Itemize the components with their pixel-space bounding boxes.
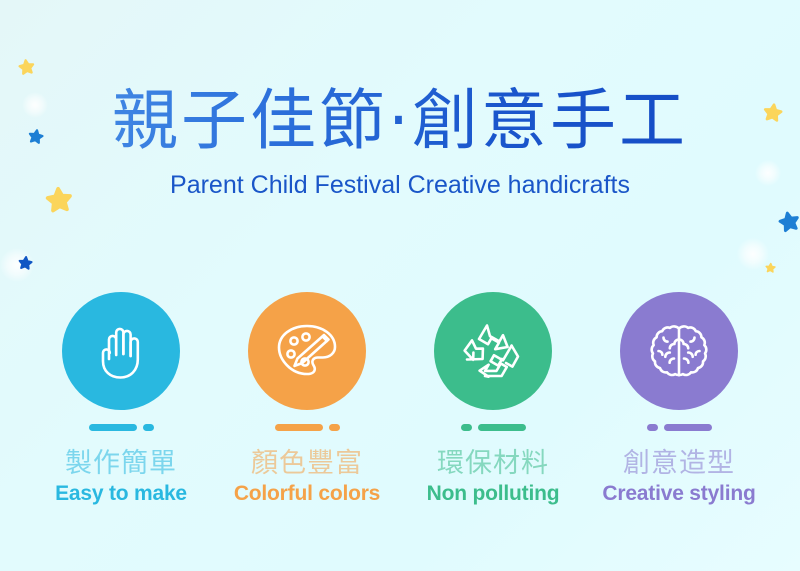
feature-icon-circle[interactable] <box>62 292 180 410</box>
feature-label-cn: 顏色豐富 <box>251 448 363 480</box>
hand-icon <box>85 315 157 387</box>
page-subtitle: Parent Child Festival Creative handicraf… <box>0 170 800 200</box>
feature-row: 製作簡單Easy to make顏色豐富Colorful colors環保材料N… <box>0 292 800 506</box>
feature-label-cn: 製作簡單 <box>65 448 177 480</box>
feature-divider <box>647 424 712 431</box>
divider-dash-short <box>329 424 340 431</box>
feature-recycle[interactable]: 環保材料Non polluting <box>400 292 586 506</box>
divider-dash-long <box>89 424 137 431</box>
star-yellow-top-left <box>18 58 35 75</box>
feature-divider <box>89 424 154 431</box>
divider-dash-short <box>647 424 658 431</box>
divider-dash-short <box>461 424 472 431</box>
feature-icon-circle[interactable] <box>434 292 552 410</box>
feature-label-en: Creative styling <box>602 481 755 506</box>
feature-label-cn: 環保材料 <box>437 448 549 480</box>
poster-canvas: 親子佳節·創意手工 Parent Child Festival Creative… <box>0 0 800 571</box>
feature-label-cn: 創意造型 <box>623 448 735 480</box>
poster-header: 親子佳節·創意手工 Parent Child Festival Creative… <box>0 84 800 200</box>
feature-divider <box>275 424 340 431</box>
feature-label-en: Non polluting <box>427 481 560 506</box>
feature-label-en: Colorful colors <box>234 481 380 506</box>
star-yellow-lower-right <box>765 262 776 273</box>
brain-icon <box>644 315 714 387</box>
divider-dash-long <box>478 424 526 431</box>
divider-dash-long <box>275 424 323 431</box>
divider-dash-short <box>143 424 154 431</box>
star-blue-lower-left <box>18 255 33 270</box>
star-blue-mid-right <box>778 210 800 232</box>
feature-divider <box>461 424 526 431</box>
feature-brain[interactable]: 創意造型Creative styling <box>586 292 772 506</box>
page-title: 親子佳節·創意手工 <box>0 84 800 158</box>
feature-label-en: Easy to make <box>55 481 187 506</box>
recycle-icon <box>456 315 530 387</box>
feature-icon-circle[interactable] <box>620 292 738 410</box>
feature-icon-circle[interactable] <box>248 292 366 410</box>
divider-dash-long <box>664 424 712 431</box>
palette-icon <box>269 316 345 386</box>
feature-palette[interactable]: 顏色豐富Colorful colors <box>214 292 400 506</box>
feature-hand[interactable]: 製作簡單Easy to make <box>28 292 214 506</box>
